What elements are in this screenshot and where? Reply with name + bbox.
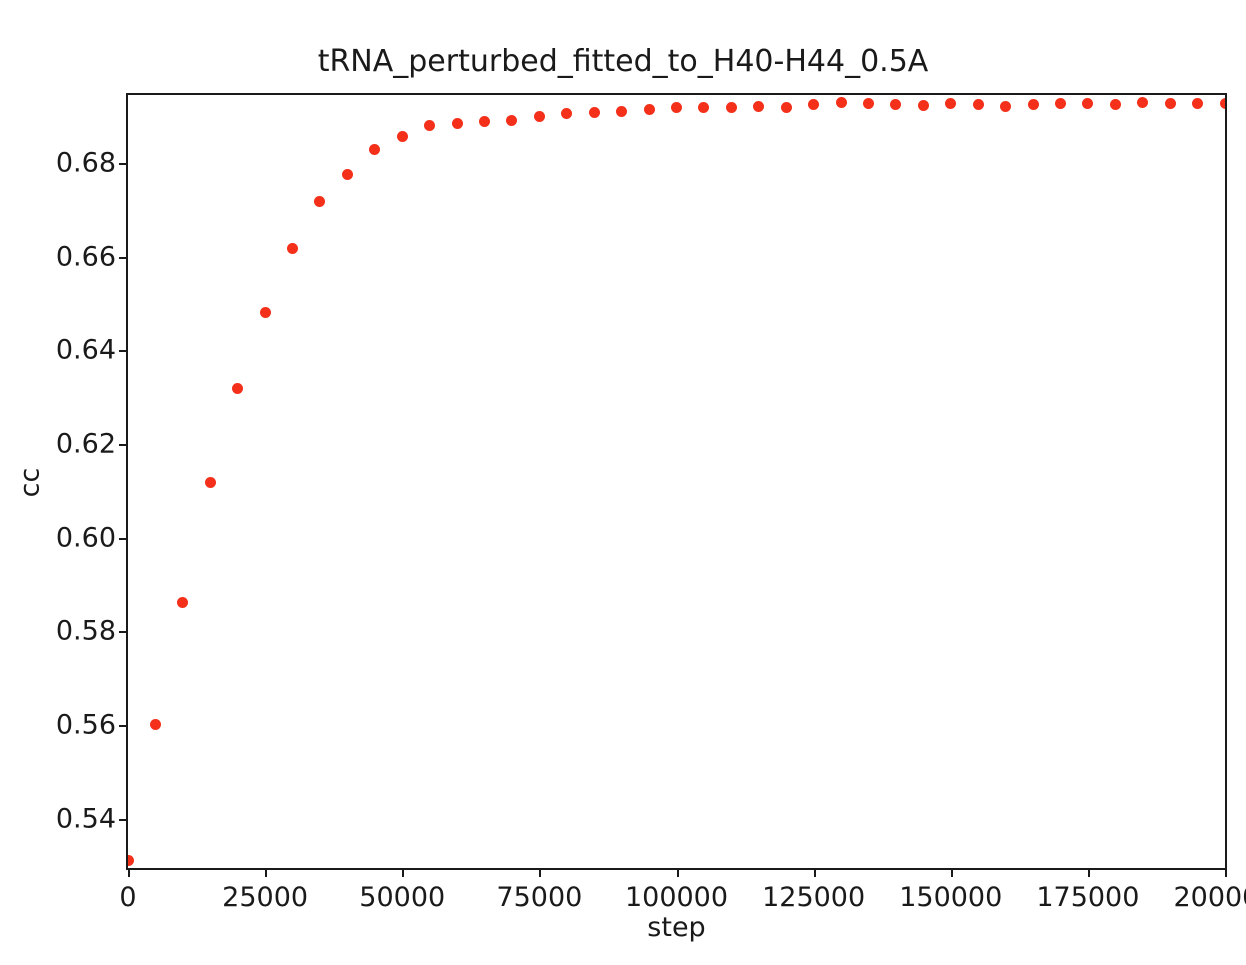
scatter-point: [973, 99, 984, 110]
scatter-point: [781, 102, 792, 113]
x-axis-tick-label: 50000: [359, 882, 445, 913]
y-axis-tick-label: 0.62: [56, 429, 116, 460]
x-axis-tick-mark: [1088, 868, 1090, 877]
scatter-point: [342, 169, 353, 180]
x-axis-tick-mark: [539, 868, 541, 877]
chart-title: tRNA_perturbed_fitted_to_H40-H44_0.5A: [0, 44, 1246, 79]
x-axis-tick-mark: [814, 868, 816, 877]
scatter-point: [479, 116, 490, 127]
scatter-point: [534, 111, 545, 122]
scatter-series: [128, 95, 1225, 868]
plot-area: 0.540.560.580.600.620.640.660.6802500050…: [126, 93, 1227, 870]
y-axis-tick-mark: [119, 163, 128, 165]
y-axis-tick-mark: [119, 631, 128, 633]
scatter-point: [177, 597, 188, 608]
figure-canvas: tRNA_perturbed_fitted_to_H40-H44_0.5A cc…: [0, 0, 1246, 965]
y-axis-tick-mark: [119, 350, 128, 352]
x-axis-tick-mark: [1225, 868, 1227, 877]
y-axis-tick-label: 0.54: [56, 803, 116, 834]
x-axis-tick-label: 25000: [222, 882, 308, 913]
scatter-point: [260, 307, 271, 318]
scatter-point: [1028, 99, 1039, 110]
x-axis-tick-mark: [265, 868, 267, 877]
scatter-point: [506, 115, 517, 126]
x-axis-tick-mark: [128, 868, 130, 877]
y-axis-tick-label: 0.64: [56, 335, 116, 366]
scatter-point: [863, 98, 874, 109]
scatter-point: [561, 108, 572, 119]
scatter-point: [1192, 98, 1203, 109]
scatter-point: [1000, 101, 1011, 112]
scatter-point: [1165, 98, 1176, 109]
scatter-point: [452, 118, 463, 129]
y-axis-tick-label: 0.58: [56, 616, 116, 647]
x-axis-tick-label: 150000: [899, 882, 1002, 913]
y-axis-tick-mark: [119, 538, 128, 540]
x-axis-tick-label: 125000: [762, 882, 865, 913]
scatter-point: [616, 106, 627, 117]
x-axis-tick-label: 75000: [496, 882, 582, 913]
scatter-point: [726, 102, 737, 113]
scatter-point: [314, 196, 325, 207]
y-axis-tick-mark: [119, 725, 128, 727]
scatter-point: [1055, 98, 1066, 109]
scatter-point: [945, 98, 956, 109]
scatter-point: [918, 100, 929, 111]
x-axis-tick-mark: [402, 868, 404, 877]
x-axis-tick-mark: [677, 868, 679, 877]
scatter-point: [698, 102, 709, 113]
scatter-point: [1110, 99, 1121, 110]
scatter-point: [150, 719, 161, 730]
scatter-point: [1137, 97, 1148, 108]
scatter-point: [671, 102, 682, 113]
scatter-point: [397, 131, 408, 142]
x-axis-tick-label: 200000: [1173, 882, 1246, 913]
y-axis-label-text: cc: [14, 468, 45, 498]
x-axis-label: step: [126, 912, 1227, 943]
y-axis-tick-label: 0.60: [56, 522, 116, 553]
x-axis-tick-label: 0: [119, 882, 136, 913]
x-axis-tick-label: 100000: [625, 882, 728, 913]
scatter-point: [287, 243, 298, 254]
y-axis-tick-mark: [119, 257, 128, 259]
scatter-point: [424, 120, 435, 131]
y-axis-label: cc: [10, 0, 50, 965]
scatter-point: [589, 107, 600, 118]
y-axis-tick-label: 0.68: [56, 147, 116, 178]
scatter-point: [128, 855, 134, 866]
scatter-point: [369, 144, 380, 155]
scatter-point: [836, 97, 847, 108]
x-axis-tick-mark: [951, 868, 953, 877]
scatter-point: [644, 104, 655, 115]
x-axis-tick-label: 175000: [1036, 882, 1139, 913]
scatter-point: [1082, 98, 1093, 109]
y-axis-tick-label: 0.56: [56, 710, 116, 741]
scatter-point: [232, 383, 243, 394]
scatter-point: [753, 101, 764, 112]
scatter-point: [890, 99, 901, 110]
scatter-point: [205, 477, 216, 488]
y-axis-tick-mark: [119, 444, 128, 446]
scatter-point: [1220, 98, 1226, 109]
y-axis-tick-mark: [119, 819, 128, 821]
y-axis-tick-label: 0.66: [56, 241, 116, 272]
scatter-point: [808, 99, 819, 110]
